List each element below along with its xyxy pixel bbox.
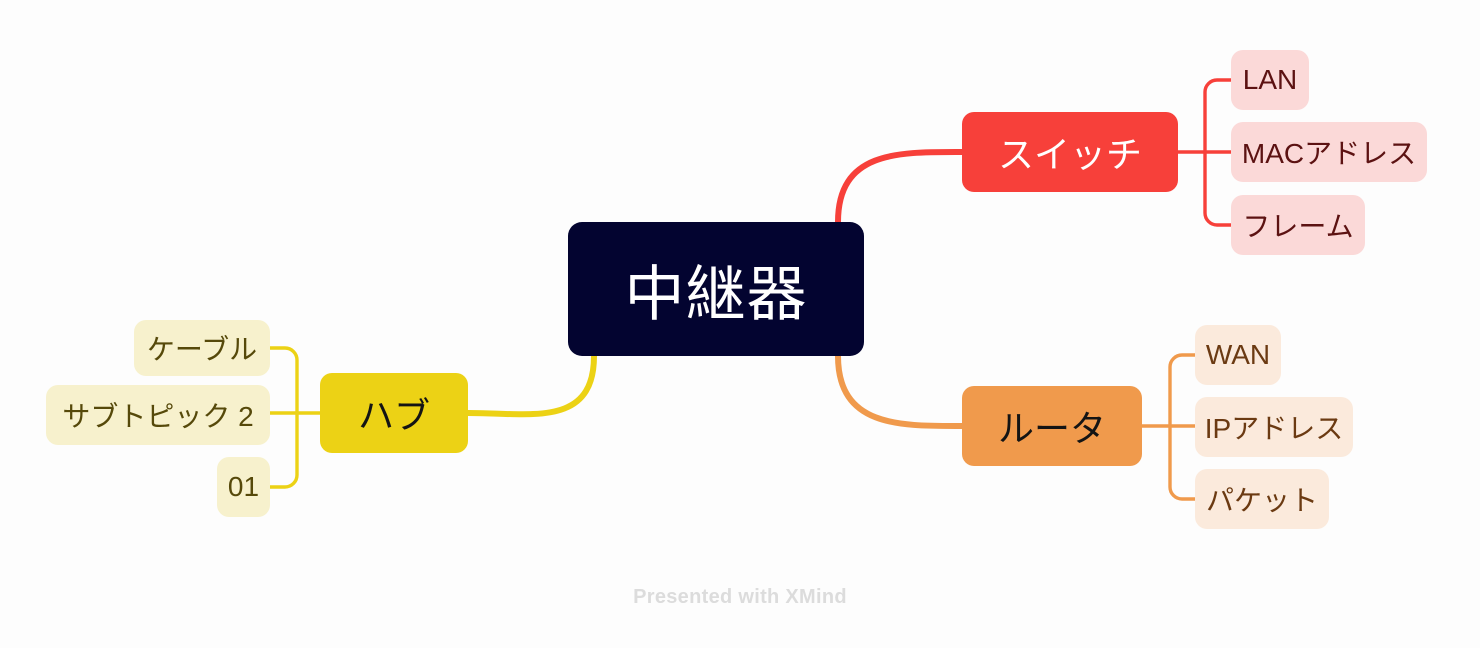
subtopic-mac-address-label: MACアドレス [1242,132,1416,172]
subtopic-01-label: 01 [228,471,259,503]
branch-node-hub-label: ハブ [358,387,430,439]
edge-switch-children [1178,80,1231,225]
subtopic-packet-label: パケット [1206,479,1318,519]
subtopic-wan-label: WAN [1206,339,1270,371]
edge-hub-children [270,348,320,487]
subtopic-frame[interactable]: フレーム [1231,195,1365,255]
subtopic-subtopic-2-label: サブトピック 2 [62,395,253,435]
mindmap-canvas[interactable]: 中継器 スイッチ LAN MACアドレス フレーム ルータ WAN IPアドレス… [0,0,1480,648]
branch-node-switch-label: スイッチ [998,126,1142,178]
subtopic-packet[interactable]: パケット [1195,469,1329,529]
root-node-label: 中継器 [625,246,808,333]
subtopic-lan-label: LAN [1243,64,1297,96]
subtopic-lan[interactable]: LAN [1231,50,1309,110]
subtopic-01[interactable]: 01 [217,457,270,517]
branch-node-router[interactable]: ルータ [962,386,1142,466]
subtopic-ip-address[interactable]: IPアドレス [1195,397,1353,457]
root-node[interactable]: 中継器 [568,222,864,356]
subtopic-cable-label: ケーブル [147,328,257,368]
subtopic-ip-address-label: IPアドレス [1205,407,1343,447]
branch-node-switch[interactable]: スイッチ [962,112,1178,192]
subtopic-subtopic-2[interactable]: サブトピック 2 [46,385,270,445]
xmind-credit-label: Presented with XMind [633,586,847,608]
subtopic-wan[interactable]: WAN [1195,325,1281,385]
subtopic-frame-label: フレーム [1242,205,1353,245]
xmind-credit: Presented with XMind [0,586,1480,609]
edge-root-hub [468,356,594,414]
subtopic-cable[interactable]: ケーブル [134,320,270,376]
edge-root-switch [838,152,962,222]
subtopic-mac-address[interactable]: MACアドレス [1231,122,1427,182]
edge-root-router [838,356,962,426]
branch-node-router-label: ルータ [998,400,1106,452]
edge-router-children [1142,355,1195,499]
branch-node-hub[interactable]: ハブ [320,373,468,453]
